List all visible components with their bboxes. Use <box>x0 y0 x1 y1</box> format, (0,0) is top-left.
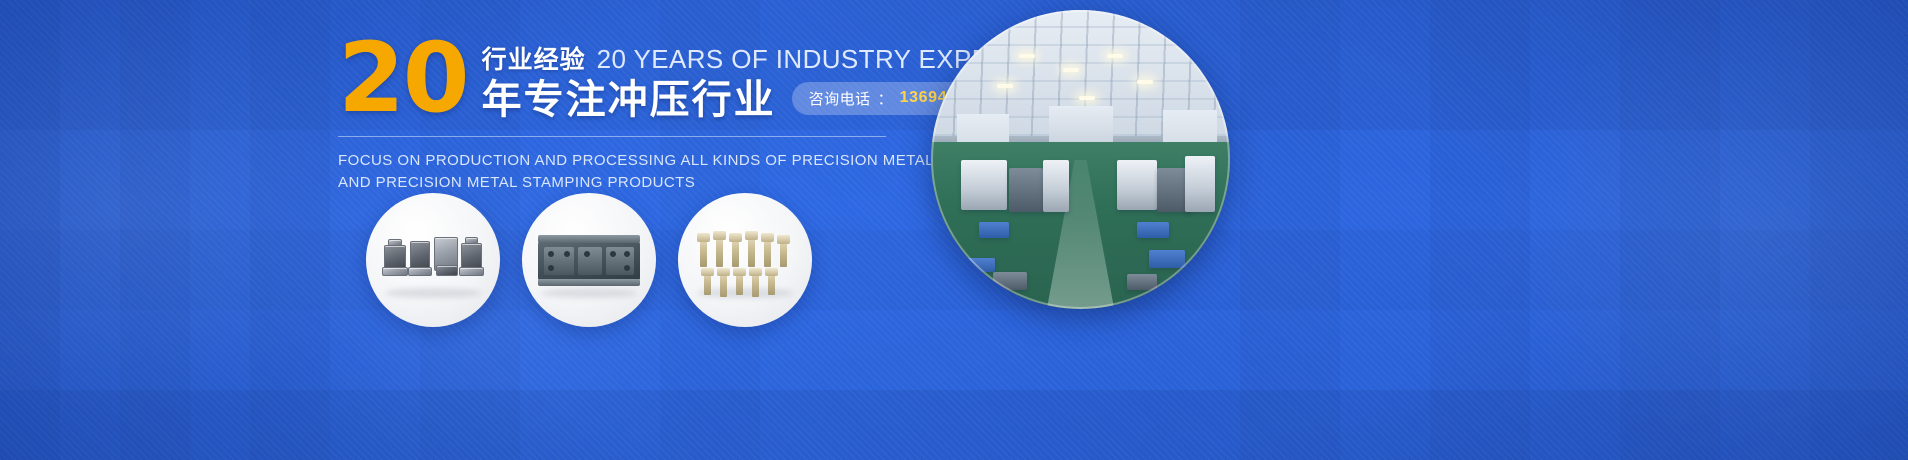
phone-badge-separator: ： <box>878 88 893 109</box>
headline-divider <box>338 136 886 137</box>
mold-pin <box>610 251 616 257</box>
terminal-pin-head <box>745 231 758 240</box>
factory-photo-circle[interactable] <box>931 10 1230 309</box>
ceiling-light <box>1137 80 1153 84</box>
product-shadow <box>697 288 794 298</box>
terminal-pin-head <box>733 268 746 276</box>
terminal-pin-head <box>777 235 790 244</box>
headline-cn-subtitle: 行业经验 <box>482 40 586 76</box>
connector-part <box>459 267 484 276</box>
factory-pallet <box>1127 274 1157 290</box>
mold-plate <box>578 247 602 275</box>
ceiling-light <box>1063 68 1079 72</box>
factory-machine <box>1185 156 1215 212</box>
mold-pin <box>548 251 554 257</box>
mold-rail <box>538 235 640 243</box>
factory-photo-image <box>931 10 1230 309</box>
factory-blue-bin <box>1149 250 1185 268</box>
factory-machine <box>961 160 1007 210</box>
factory-machine <box>1043 160 1069 212</box>
mold-pin <box>584 251 590 257</box>
factory-pallet <box>993 272 1027 290</box>
mold-pin <box>624 265 630 271</box>
ceiling-light <box>1019 54 1035 58</box>
connector-part <box>388 239 402 246</box>
connector-part <box>382 267 408 276</box>
terminal-pin-head <box>713 231 726 240</box>
mold-pin <box>564 251 570 257</box>
phone-badge-label: 咨询电话 <box>809 88 871 109</box>
factory-machine <box>1117 160 1157 210</box>
subcopy-line-1: FOCUS ON PRODUCTION AND PROCESSING ALL K… <box>338 150 898 172</box>
terminal-pin-head <box>761 233 774 242</box>
promo-banner: 20 行业经验 20 YEARS OF INDUSTRY EXPERIENCE … <box>0 0 1908 460</box>
mold-pin <box>548 265 554 271</box>
factory-blue-bin <box>967 258 995 272</box>
mold-rail <box>538 279 640 286</box>
terminal-pin-head <box>729 233 742 242</box>
years-number: 20 <box>338 36 468 120</box>
terminal-pin-head <box>697 233 710 242</box>
ceiling-light <box>1079 96 1095 100</box>
terminal-pin-head <box>749 268 762 276</box>
product-circle-metal-connector-shells[interactable] <box>366 193 500 327</box>
connector-part <box>408 267 432 276</box>
factory-machine <box>1009 168 1043 212</box>
product-shadow <box>541 288 638 298</box>
subcopy-line-2: AND PRECISION METAL STAMPING PRODUCTS <box>338 172 898 194</box>
ceiling-light <box>1107 54 1123 58</box>
headline-block: 20 行业经验 20 YEARS OF INDUSTRY EXPERIENCE … <box>338 34 898 194</box>
ceiling-light <box>997 84 1013 88</box>
connector-part <box>436 265 458 276</box>
factory-blue-bin <box>1137 222 1169 238</box>
terminal-pin-head <box>701 268 714 276</box>
headline-cn-main: 年专注冲压行业 <box>482 78 776 122</box>
connector-part <box>465 237 478 244</box>
product-shadow <box>385 288 482 298</box>
terminal-pin-head <box>765 268 778 276</box>
terminal-pin-head <box>717 268 730 276</box>
mold-pin <box>624 251 630 257</box>
headline-row: 20 行业经验 20 YEARS OF INDUSTRY EXPERIENCE … <box>338 34 898 122</box>
product-circle-precision-stamping-mold[interactable] <box>522 193 656 327</box>
product-thumbnails <box>366 193 812 327</box>
subcopy-block: FOCUS ON PRODUCTION AND PROCESSING ALL K… <box>338 150 898 194</box>
product-circle-brass-terminal-pins[interactable] <box>678 193 812 327</box>
factory-blue-bin <box>979 222 1009 238</box>
